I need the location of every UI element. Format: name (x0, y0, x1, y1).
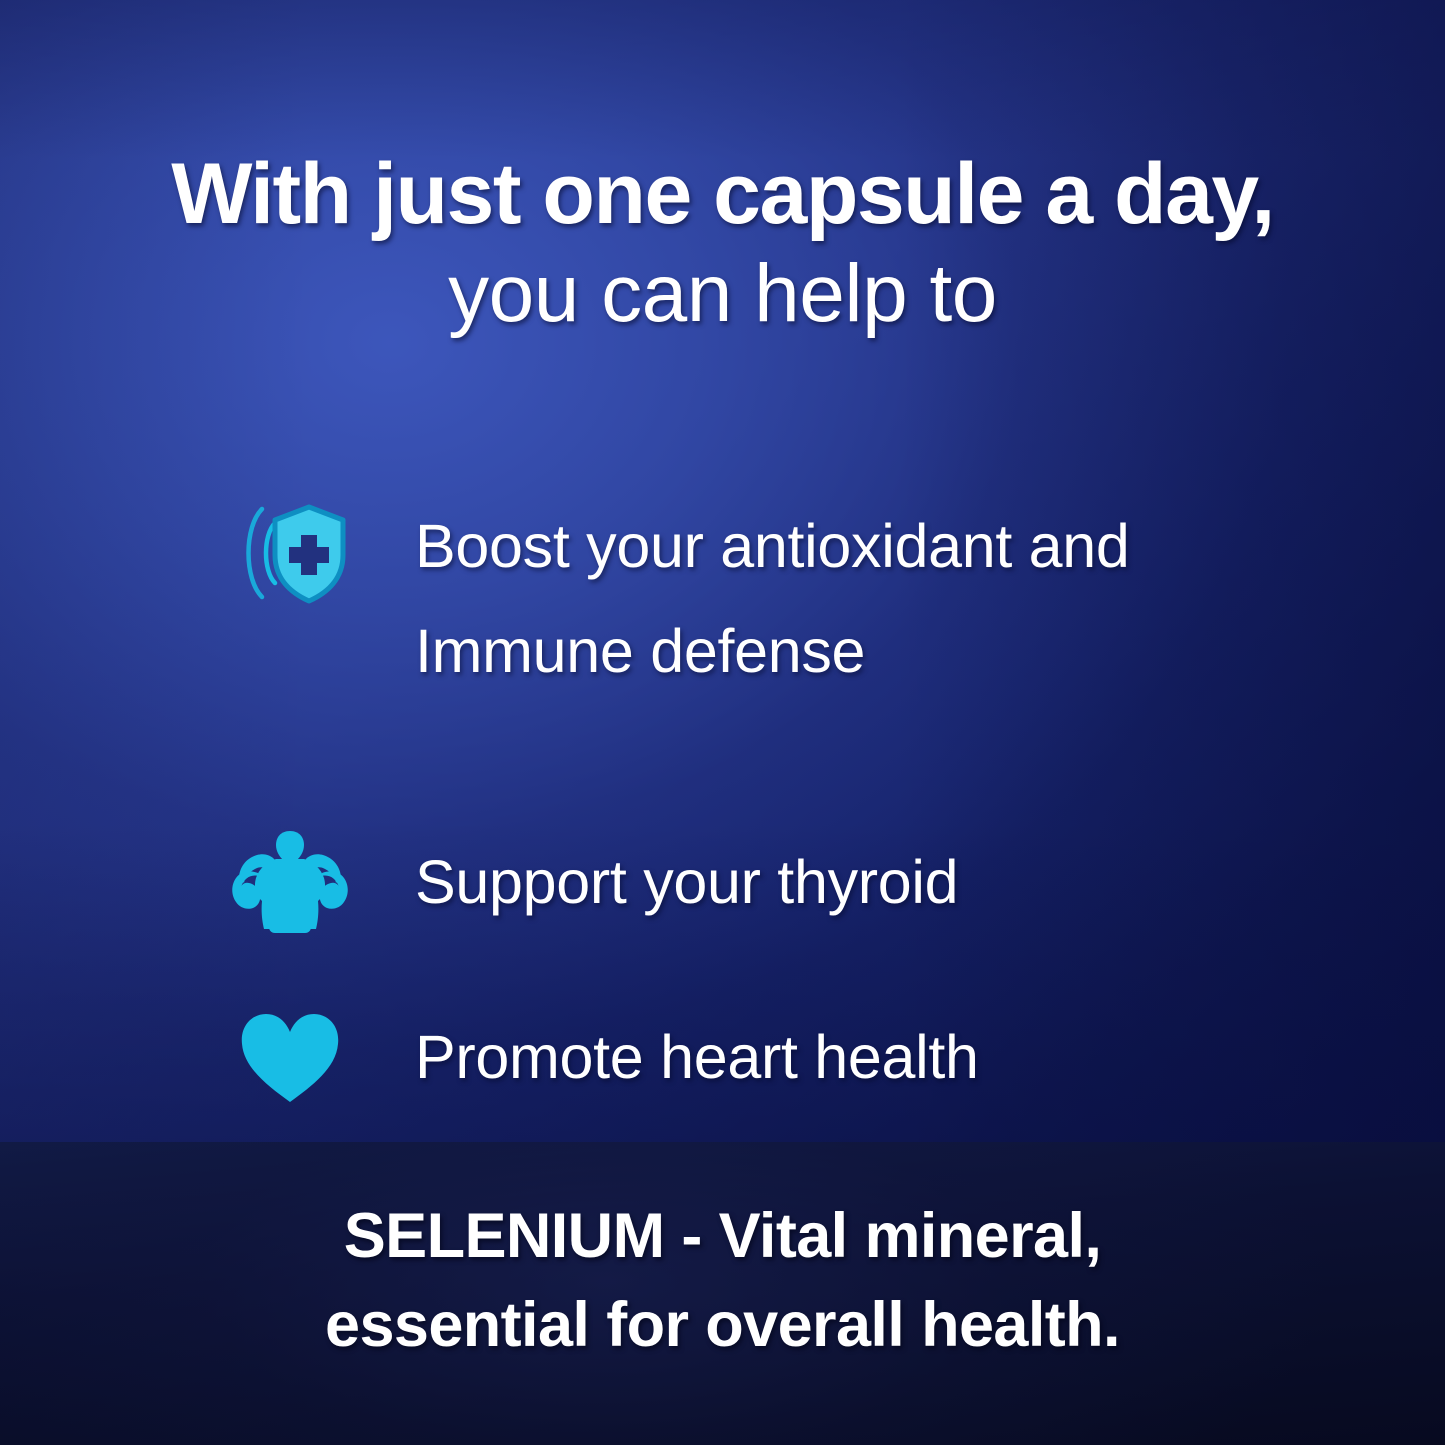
flexing-muscle-icon (225, 822, 355, 940)
benefit-item-antioxidant-immune: Boost your antioxidant and Immune defens… (0, 486, 1445, 704)
benefit-item-heart-health: Promote heart health (0, 997, 1445, 1127)
bottom-caption: SELENIUM - Vital mineral, essential for … (0, 1192, 1445, 1371)
benefits-list: Boost your antioxidant and Immune defens… (0, 486, 1445, 1127)
benefit-label: Promote heart health (415, 997, 1315, 1110)
headline-line-2: you can help to (0, 250, 1445, 338)
benefit-item-thyroid: Support your thyroid (0, 822, 1445, 952)
benefit-label: Support your thyroid (415, 822, 1315, 935)
headline-line-1: With just one capsule a day, (0, 148, 1445, 240)
heart-icon (225, 999, 355, 1117)
benefit-label: Boost your antioxidant and Immune defens… (415, 486, 1315, 704)
headline: With just one capsule a day, you can hel… (0, 148, 1445, 338)
promo-image-canvas: With just one capsule a day, you can hel… (0, 0, 1445, 1445)
caption-line-2: essential for overall health. (0, 1281, 1445, 1370)
shield-plus-icon (225, 494, 355, 612)
caption-line-1: SELENIUM - Vital mineral, (0, 1192, 1445, 1281)
